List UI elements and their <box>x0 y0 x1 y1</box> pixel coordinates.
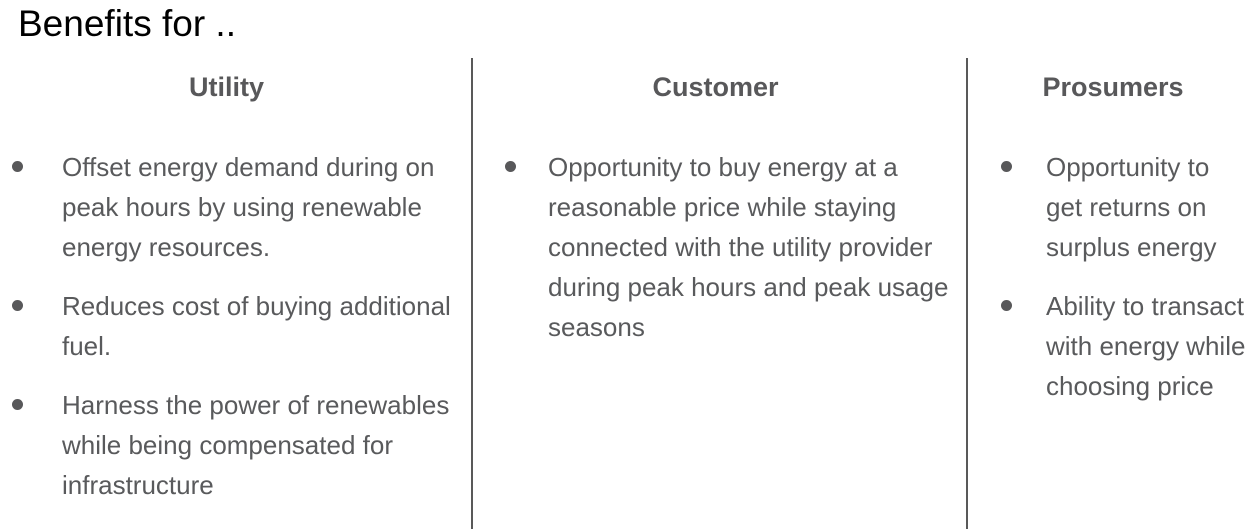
bullet-dot-icon <box>1001 300 1012 311</box>
list-item: Opportunity to buy energy at a reasonabl… <box>503 147 953 347</box>
bullet-text: Harness the power of renewables while be… <box>62 385 452 505</box>
bullet-list-customer: Opportunity to buy energy at a reasonabl… <box>503 147 953 347</box>
bullet-dot-icon <box>1001 161 1012 172</box>
bullet-text: Offset energy demand during on peak hour… <box>62 147 452 267</box>
bullet-text: Opportunity to buy energy at a reasonabl… <box>548 147 953 347</box>
column-utility: Utility Offset energy demand during on p… <box>0 58 471 529</box>
bullet-dot-icon <box>12 399 23 410</box>
bullet-dot-icon <box>12 161 23 172</box>
list-item: Ability to transact with energy while ch… <box>998 286 1246 406</box>
page-title: Benefits for .. <box>18 2 236 46</box>
list-item: Opportunity to get returns on surplus en… <box>998 147 1246 267</box>
column-prosumers: Prosumers Opportunity to get returns on … <box>966 58 1246 529</box>
bullet-dot-icon <box>12 300 23 311</box>
column-header-utility: Utility <box>0 71 471 103</box>
bullet-dot-icon <box>505 161 516 172</box>
bullet-text: Reduces cost of buying additional fuel. <box>62 286 452 366</box>
list-item: Reduces cost of buying additional fuel. <box>12 286 452 366</box>
slide: Benefits for .. Utility Offset energy de… <box>0 0 1246 529</box>
column-customer: Customer Opportunity to buy energy at a … <box>471 58 966 529</box>
column-header-customer: Customer <box>473 71 966 103</box>
bullet-list-prosumers: Opportunity to get returns on surplus en… <box>998 147 1246 406</box>
bullet-list-utility: Offset energy demand during on peak hour… <box>12 147 452 505</box>
benefits-columns: Utility Offset energy demand during on p… <box>0 58 1246 529</box>
column-header-prosumers: Prosumers <box>968 71 1246 103</box>
list-item: Offset energy demand during on peak hour… <box>12 147 452 267</box>
bullet-text: Ability to transact with energy while ch… <box>1046 286 1246 406</box>
bullet-text: Opportunity to get returns on surplus en… <box>1046 147 1246 267</box>
list-item: Harness the power of renewables while be… <box>12 385 452 505</box>
